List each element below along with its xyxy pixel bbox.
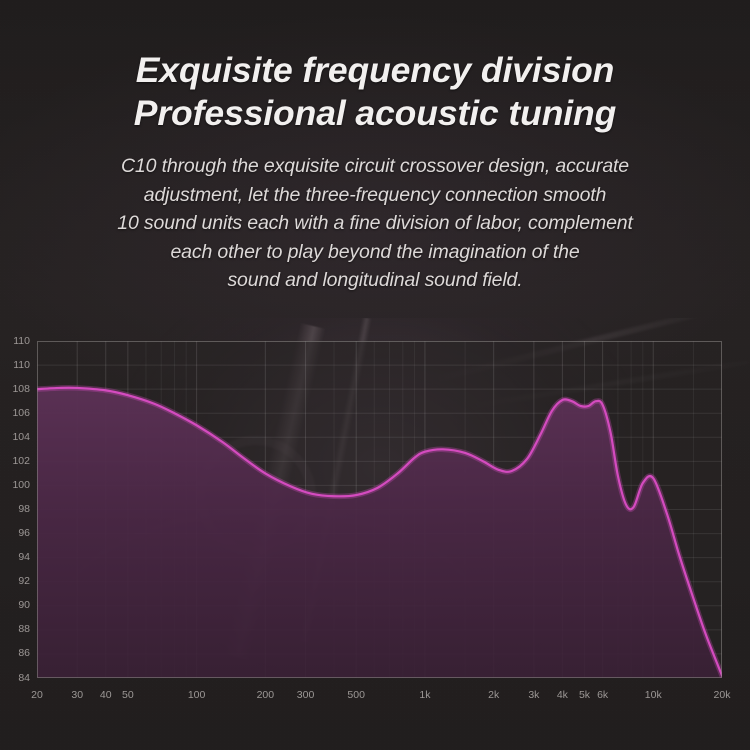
page-title: Exquisite frequency division Professiona… bbox=[0, 49, 750, 135]
y-axis-tick-12: 88 bbox=[2, 624, 30, 635]
description-line-3: 10 sound units each with a fine division… bbox=[0, 209, 750, 238]
headline-line-1: Exquisite frequency division bbox=[136, 50, 615, 90]
description-line-2: adjustment, let the three-frequency conn… bbox=[0, 181, 750, 210]
chart-plot-area bbox=[0, 318, 750, 718]
headline-line-2: Professional acoustic tuning bbox=[0, 92, 750, 135]
x-axis-tick-8: 1k bbox=[405, 690, 445, 701]
y-axis-tick-1: 110 bbox=[2, 360, 30, 371]
y-axis-tick-10: 92 bbox=[2, 576, 30, 587]
y-axis-tick-0: 110 bbox=[2, 336, 30, 347]
x-axis-tick-7: 500 bbox=[336, 690, 376, 701]
y-axis-tick-2: 108 bbox=[2, 384, 30, 395]
y-axis-tick-11: 90 bbox=[2, 600, 30, 611]
description-line-4: each other to play beyond the imaginatio… bbox=[0, 238, 750, 267]
x-axis-tick-6: 300 bbox=[286, 690, 326, 701]
x-axis-tick-4: 100 bbox=[177, 690, 217, 701]
y-axis-tick-14: 84 bbox=[2, 673, 30, 684]
x-axis-tick-0: 20 bbox=[17, 690, 57, 701]
x-axis-tick-15: 20k bbox=[702, 690, 742, 701]
y-axis-tick-4: 104 bbox=[2, 432, 30, 443]
description-line-5: sound and longitudinal sound field. bbox=[0, 266, 750, 295]
y-axis-tick-6: 100 bbox=[2, 480, 30, 491]
y-axis-tick-13: 86 bbox=[2, 648, 30, 659]
y-axis-tick-9: 94 bbox=[2, 552, 30, 563]
y-axis-tick-8: 96 bbox=[2, 528, 30, 539]
description-line-1: C10 through the exquisite circuit crosso… bbox=[0, 152, 750, 181]
x-axis-tick-5: 200 bbox=[245, 690, 285, 701]
y-axis-tick-3: 106 bbox=[2, 408, 30, 419]
description-paragraph: C10 through the exquisite circuit crosso… bbox=[0, 152, 750, 295]
x-axis-tick-9: 2k bbox=[474, 690, 514, 701]
y-axis-tick-7: 98 bbox=[2, 504, 30, 515]
x-axis-tick-3: 50 bbox=[108, 690, 148, 701]
x-axis-tick-14: 10k bbox=[633, 690, 673, 701]
x-axis-tick-13: 6k bbox=[583, 690, 623, 701]
y-axis-tick-5: 102 bbox=[2, 456, 30, 467]
frequency-response-chart: 1101101081061041021009896949290888684 20… bbox=[0, 318, 750, 718]
